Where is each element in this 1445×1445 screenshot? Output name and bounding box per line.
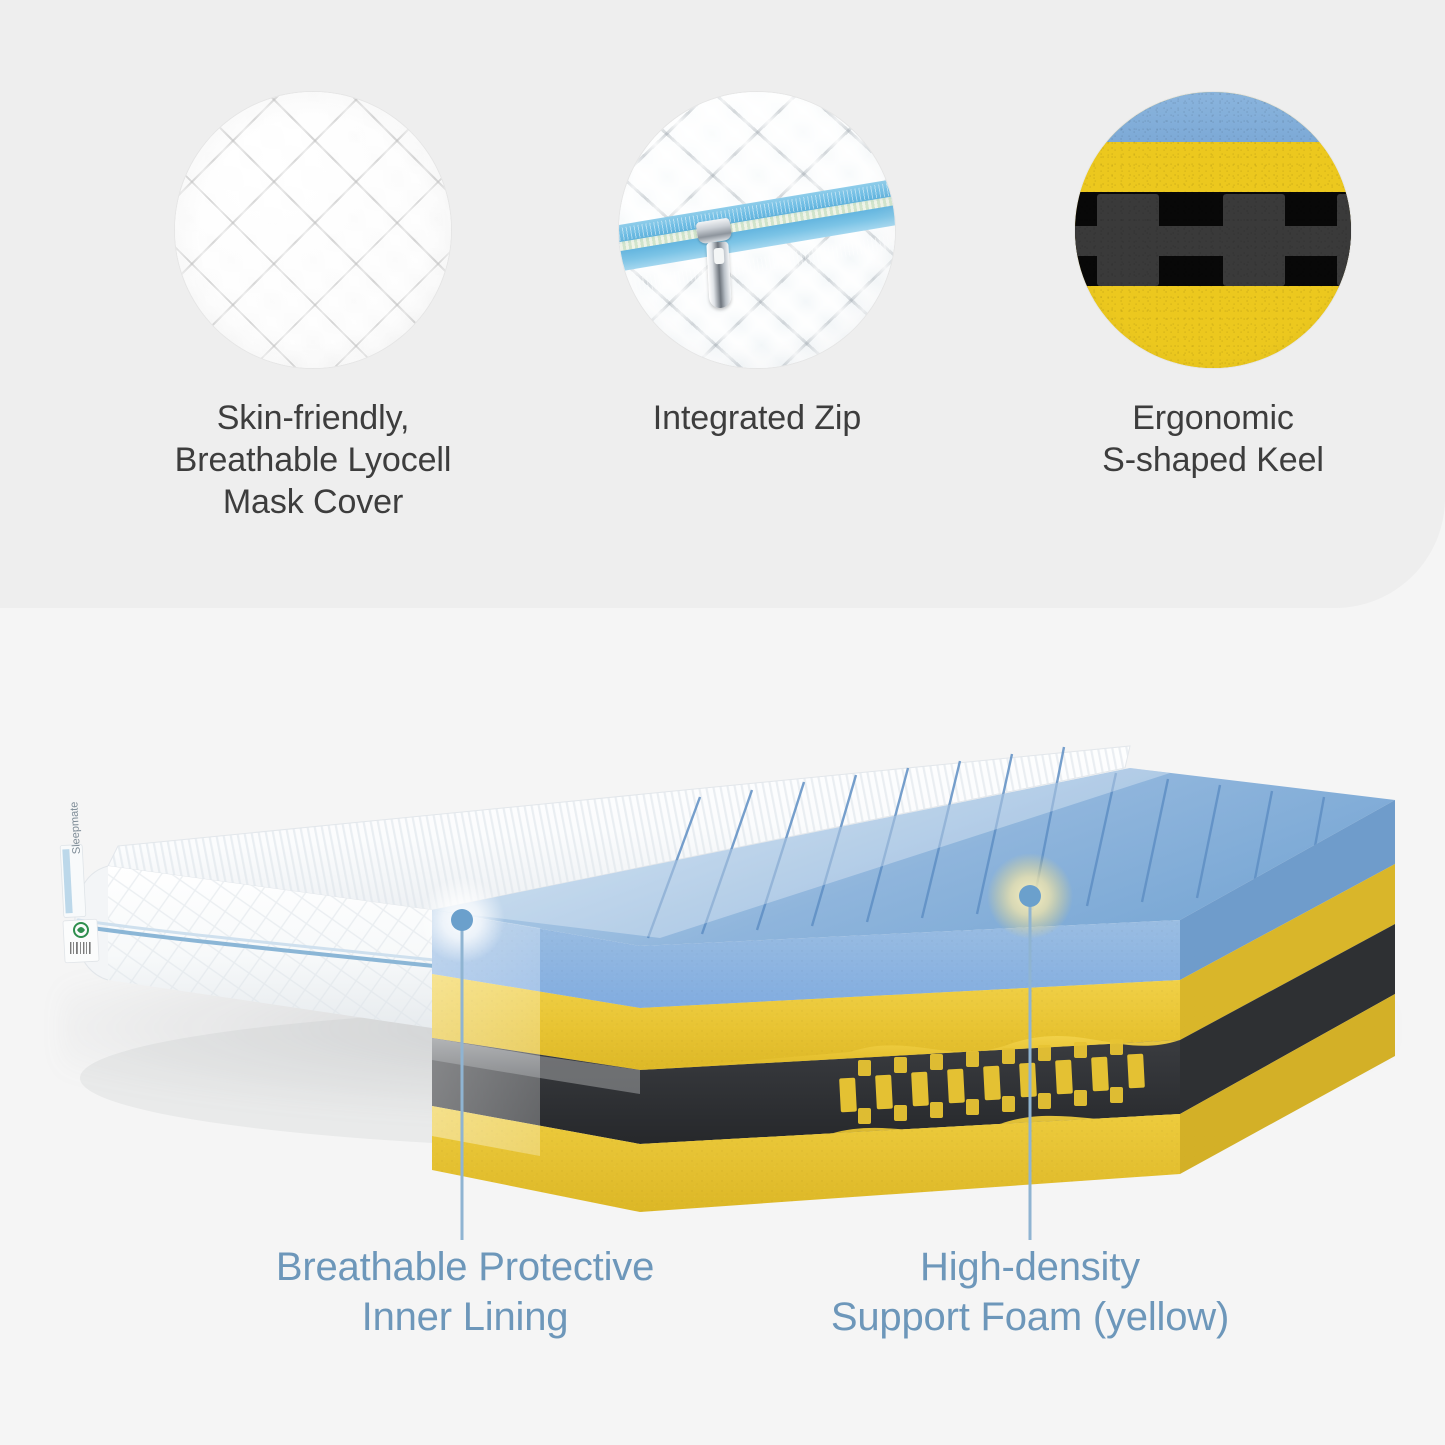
keel-cutout [1091, 1057, 1109, 1092]
caption-line: Integrated Zip [592, 398, 922, 440]
feature-panel: Skin-friendly, Breathable Lyocell Mask C… [0, 0, 1445, 608]
circle-vignette [175, 92, 451, 368]
keel-cutout [947, 1069, 965, 1104]
callout-caption-inner-lining: Breathable Protective Inner Lining [215, 1243, 715, 1342]
keel-cutout [1055, 1060, 1073, 1095]
brand-tag-text: Sleepmate [68, 801, 83, 854]
feature-item-integrated-zip: Integrated Zip [592, 0, 922, 440]
caption-line: Ergonomic [1048, 398, 1378, 440]
keel-cutout [983, 1066, 1001, 1101]
feature-caption-integrated-zip: Integrated Zip [592, 398, 922, 440]
keel-cutout [1127, 1054, 1145, 1089]
quilted-fabric-swatch-icon [175, 92, 451, 368]
zipper-closeup-icon [619, 92, 895, 368]
caption-line: S-shaped Keel [1048, 440, 1378, 482]
feature-item-lyocell-cover: Skin-friendly, Breathable Lyocell Mask C… [148, 0, 478, 523]
eco-label [63, 919, 99, 963]
callout-dot [451, 909, 473, 931]
feature-caption-ergonomic-keel: Ergonomic S-shaped Keel [1048, 398, 1378, 482]
feature-caption-lyocell-cover: Skin-friendly, Breathable Lyocell Mask C… [148, 398, 478, 523]
caption-line: Inner Lining [215, 1293, 715, 1343]
foam-layers-keel-closeup-icon [1075, 92, 1351, 368]
keel-cutout [875, 1075, 893, 1110]
feature-item-ergonomic-keel: Ergonomic S-shaped Keel [1048, 0, 1378, 482]
caption-line: Breathable Lyocell [148, 440, 478, 482]
circle-vignette [1075, 92, 1351, 368]
callout-caption-support-foam: High-density Support Foam (yellow) [780, 1243, 1280, 1342]
caption-line: Breathable Protective [215, 1243, 715, 1293]
caption-line: Mask Cover [148, 482, 478, 524]
keel-cutout [911, 1072, 929, 1107]
caption-line: Skin-friendly, [148, 398, 478, 440]
caption-line: Support Foam (yellow) [780, 1293, 1280, 1343]
keel-cutout [1019, 1063, 1037, 1098]
caption-line: High-density [780, 1243, 1280, 1293]
circle-vignette [619, 92, 895, 368]
mattress-scene: Sleepmate [0, 608, 1445, 1268]
keel-cutout [839, 1078, 857, 1113]
callout-dot [1019, 885, 1041, 907]
mattress-cutaway-illustration: Sleepmate [0, 608, 1445, 1268]
